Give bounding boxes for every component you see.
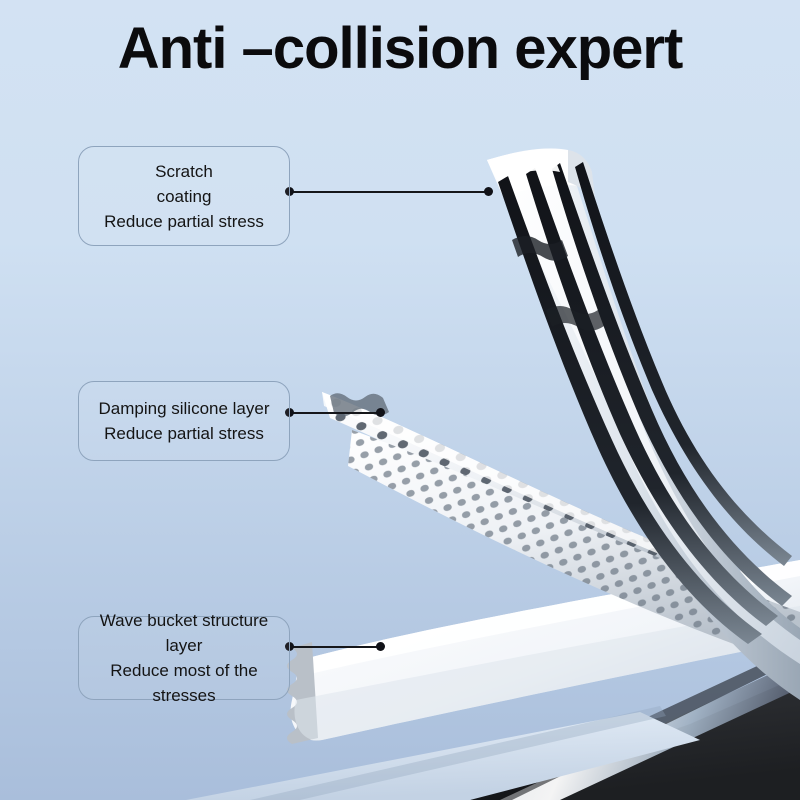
callout-text-scratch-coating: Scratch coating Reduce partial stress xyxy=(96,159,272,234)
product-infographic: Anti –collision expert Scratch coating R… xyxy=(0,0,800,800)
callout-text-wave-bucket-structure-layer: Wave bucket structure layer Reduce most … xyxy=(79,608,289,708)
callout-text-damping-silicone-layer: Damping silicone layer Reduce partial st… xyxy=(90,396,277,446)
callout-wave-bucket-structure-layer: Wave bucket structure layer Reduce most … xyxy=(78,616,290,700)
connector-line-scratch-coating xyxy=(289,191,489,193)
connector-dot-end-scratch-coating xyxy=(484,187,493,196)
connector-line-wave-bucket xyxy=(289,646,381,648)
callout-damping-silicone-layer: Damping silicone layer Reduce partial st… xyxy=(78,381,290,461)
connector-line-damping-silicone xyxy=(289,412,381,414)
connector-dot-end-wave-bucket xyxy=(376,642,385,651)
page-title: Anti –collision expert xyxy=(0,16,800,82)
connector-dot-end-damping-silicone xyxy=(376,408,385,417)
callout-scratch-coating: Scratch coating Reduce partial stress xyxy=(78,146,290,246)
